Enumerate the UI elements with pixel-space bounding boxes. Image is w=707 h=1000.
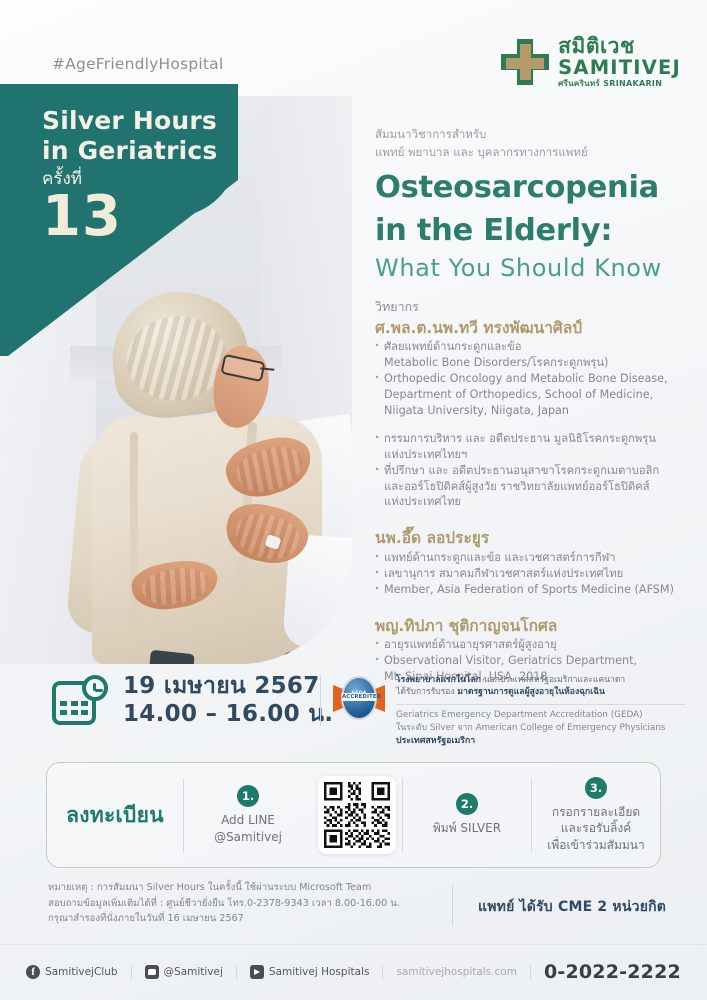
list-item: Observational Visitor, Geriatrics Depart… — [375, 653, 695, 669]
footer-bar: SamitivejClub @Samitivej Samitivej Hospi… — [0, 952, 707, 992]
list-item: ศัลยแพทย์ด้านกระดูกและข้อ — [375, 339, 695, 355]
seminar-subtitle: What You Should Know — [375, 254, 695, 283]
list-item: แห่งประเทศไทยฯ — [375, 447, 695, 463]
facebook-label: SamitivejClub — [45, 966, 117, 978]
seal-label: ACCREDITED — [342, 693, 376, 701]
divider — [452, 884, 453, 926]
list-item: Member, Asia Federation of Sports Medici… — [375, 582, 695, 598]
kicker-line-1: สัมมนาวิชาการสำหรับ — [375, 126, 695, 144]
register-step-3[interactable]: 3. กรอกรายละเอียด และรอรับลิ้งค์ เพื่อเข… — [532, 777, 660, 854]
hashtag-text: #AgeFriendlyHospital — [52, 55, 223, 73]
website-link[interactable]: samitivejhospitals.com — [396, 966, 517, 978]
cross-icon — [501, 39, 549, 85]
register-step-2[interactable]: 2. พิมพ์ SILVER — [403, 793, 531, 837]
seminar-details: สัมมนาวิชาการสำหรับ แพทย์ พยาบาล และ บุค… — [375, 126, 695, 685]
silver-hours-badge: Silver Hours in Geriatrics ครั้งที่ 13 — [0, 84, 262, 356]
list-item: Department of Orthopedics, School of Med… — [375, 387, 695, 403]
geda-accreditation: GEDASILVER ACCREDITED โรงพยาบาลแรกในโลก … — [333, 674, 686, 748]
geda-headline-bold-1: โรงพยาบาลแรกในโลก — [396, 675, 481, 685]
line-link[interactable]: @Samitivej — [145, 965, 223, 979]
accreditation-seal-icon: GEDASILVER ACCREDITED — [333, 674, 385, 722]
step-3-line3: เพื่อเข้าร่วมสัมมนา — [547, 837, 644, 854]
divider — [320, 676, 321, 726]
list-item: เลขานุการ สมาคมกีฬาเวชศาสตร์แห่งประเทศไท… — [375, 566, 695, 582]
step-1-number: 1. — [237, 785, 259, 807]
youtube-icon — [250, 965, 264, 979]
step-2-line1: พิมพ์ SILVER — [433, 820, 501, 837]
logo-branch-name: ศรีนครินทร์ SRINAKARIN — [558, 80, 681, 88]
logo-thai-name: สมิติเวช — [558, 36, 681, 57]
registration-box: ลงทะเบียน 1. Add LINE @Samitivej — [46, 762, 661, 868]
speaker-1-name: ศ.พล.ต.นพ.ทวี ทรงพัฒนาศิลป์ — [375, 319, 695, 338]
note-line-2: สอบถามข้อมูลเพิ่มเติมได้ที่ : ศูนย์ชีวาย… — [48, 896, 418, 912]
step-3-line1: กรอกรายละเอียด — [547, 804, 644, 821]
list-item: แพทย์ด้านกระดูกและข้อ และเวชศาสตร์การกีฬ… — [375, 550, 695, 566]
list-item: กรรมการบริหาร และ อดีตประธาน มูลนิธิโรคก… — [375, 431, 695, 447]
seminar-date: 19 เมษายน 2567 — [123, 672, 333, 700]
geda-body-line1: Geriatrics Emergency Department Accredit… — [396, 709, 686, 722]
samitivej-logo: สมิติเวช SAMITIVEJ ศรีนครินทร์ SRINAKARI… — [501, 36, 681, 88]
cme-credit-text: แพทย์ ได้รับ CME 2 หน่วยกิต — [478, 896, 666, 918]
qr-code[interactable] — [318, 776, 396, 854]
geda-body-line3: ประเทศสหรัฐอเมริกา — [396, 736, 475, 746]
step-3-line2: และรอรับลิ้งค์ — [547, 820, 644, 837]
seminar-time: 14.00 – 16.00 น. — [123, 700, 333, 728]
badge-title-line1: Silver Hours — [42, 106, 217, 136]
list-item: Metabolic Bone Disorders/โรคกระดูกพรุน) — [375, 355, 695, 371]
speaker-2-credentials: แพทย์ด้านกระดูกและข้อ และเวชศาสตร์การกีฬ… — [375, 550, 695, 598]
badge-edition-number: 13 — [42, 191, 217, 244]
badge-title-line2: in Geriatrics — [42, 136, 217, 166]
qr-code-image — [324, 782, 390, 848]
logo-english-name: SAMITIVEJ — [558, 58, 681, 78]
step-3-number: 3. — [585, 777, 607, 799]
speaker-1-credentials: ศัลยแพทย์ด้านกระดูกและข้อ Metabolic Bone… — [375, 339, 695, 419]
footnote: หมายเหตุ : การสัมมนา Silver Hours ในครั้… — [48, 880, 418, 927]
poster: #AgeFriendlyHospital สมิติเวช SAMITIVEJ … — [0, 0, 707, 1000]
seminar-title-line2: in the Elderly: — [375, 214, 695, 248]
step-1-line1: Add LINE — [214, 812, 282, 829]
schedule-block: 19 เมษายน 2567 14.00 – 16.00 น. — [52, 672, 333, 728]
line-icon — [145, 965, 159, 979]
geda-headline-rest-1: นอกประเทศสหรัฐอเมริกาและแคนาดา — [481, 675, 625, 685]
phone-number[interactable]: 0-2022-2222 — [544, 961, 681, 983]
note-line-1: หมายเหตุ : การสัมมนา Silver Hours ในครั้… — [48, 880, 418, 896]
list-item: Niigata University, Niigata, Japan — [375, 403, 695, 419]
geda-headline-bold-2: มาตรฐานการดูแลผู้สูงอายุในห้องฉุกเฉิน — [457, 687, 604, 697]
step-1-line2: @Samitivej — [214, 829, 282, 846]
list-item: ที่ปรึกษา และ อดีตประธานอนุสาขาโรคกระดูก… — [375, 463, 695, 479]
youtube-link[interactable]: Samitivej Hospitals — [250, 965, 370, 979]
seminar-title-line1: Osteosarcopenia — [375, 171, 695, 205]
youtube-label: Samitivej Hospitals — [269, 966, 370, 978]
geda-body-line2: ในระดับ Silver จาก American College of E… — [396, 722, 686, 735]
list-item: แห่งประเทศไทย — [375, 494, 695, 510]
register-step-1[interactable]: 1. Add LINE @Samitivej — [184, 785, 312, 845]
facebook-icon — [26, 965, 40, 979]
speaker-3-name: พญ.ทิปภา ชุติกาญจนโกศล — [375, 617, 695, 636]
list-item: Orthopedic Oncology and Metabolic Bone D… — [375, 371, 695, 387]
divider — [0, 944, 707, 945]
list-item: อายุรแพทย์ด้านอายุรศาสตร์ผู้สูงอายุ — [375, 637, 695, 653]
speaker-2-name: นพ.อึ๊ด ลอประยูร — [375, 529, 695, 548]
note-line-3: กรุณาสำรองที่นั่งภายในวันที่ 16 เมษายน 2… — [48, 911, 418, 927]
calendar-clock-icon — [52, 675, 108, 725]
list-item: และออร์โธปิดิคส์ผู้สูงวัย ราชวิทยาลัยแพท… — [375, 479, 695, 495]
kicker-line-2: แพทย์ พยาบาล และ บุคลากรทางการแพทย์ — [375, 144, 695, 162]
line-label: @Samitivej — [164, 966, 223, 978]
register-title: ลงทะเบียน — [47, 799, 183, 832]
speaker-1-credentials-2: กรรมการบริหาร และ อดีตประธาน มูลนิธิโรคก… — [375, 431, 695, 511]
step-2-number: 2. — [456, 793, 478, 815]
facebook-link[interactable]: SamitivejClub — [26, 965, 117, 979]
speakers-label: วิทยากร — [375, 297, 695, 317]
geda-headline-plain-2: ได้รับการรับรอง — [396, 687, 457, 697]
